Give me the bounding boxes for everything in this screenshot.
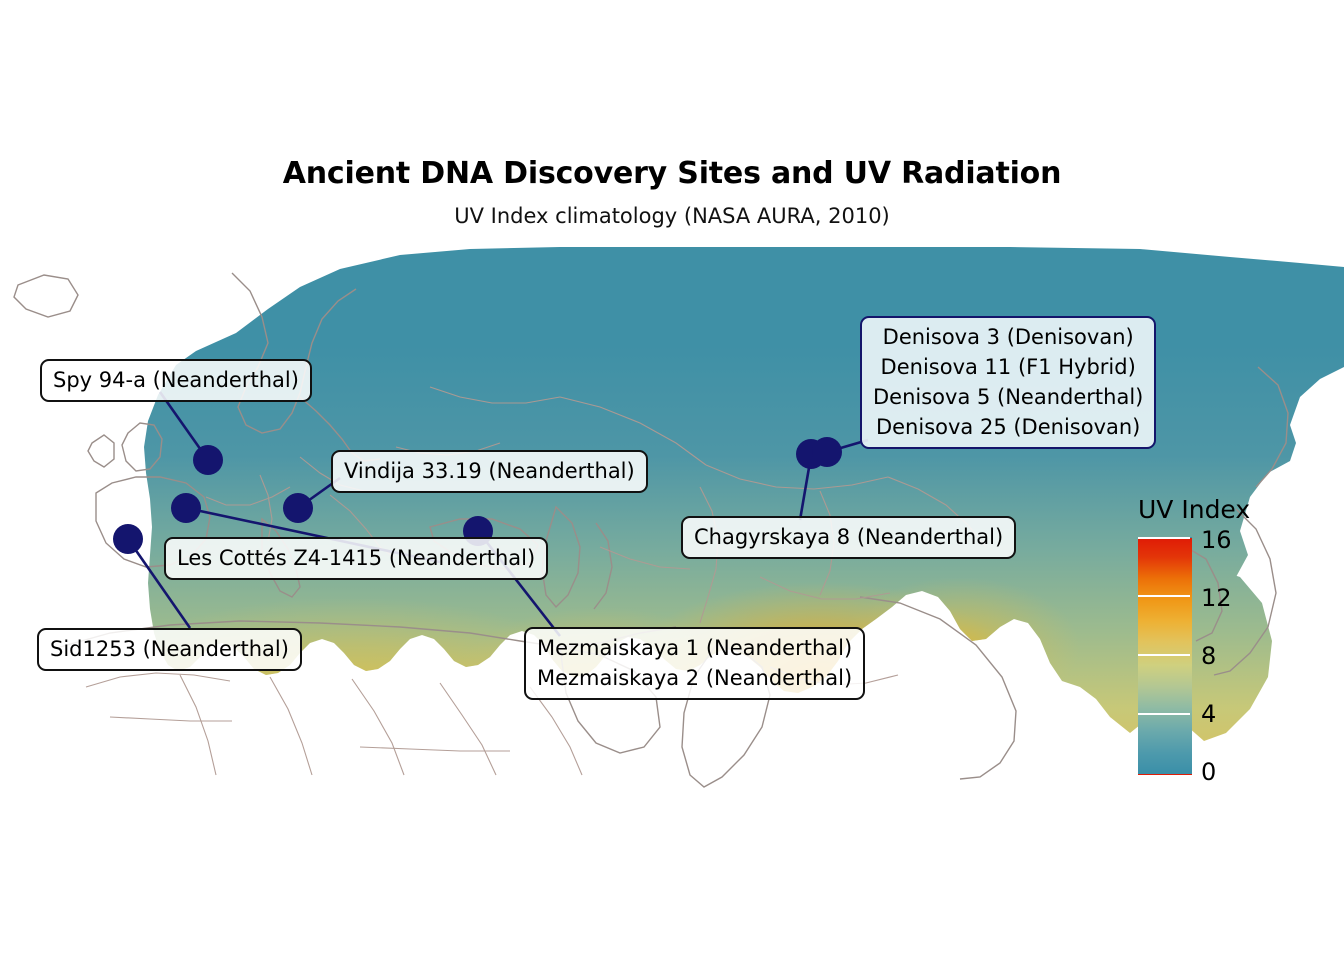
site-marker-spy[interactable] [193,445,223,475]
colorbar-tickline-8 [1138,654,1190,656]
colorbar-title: UV Index [1138,495,1250,524]
annotation-denisova-line-0: Denisova 3 (Denisovan) [873,322,1143,352]
annotation-mezmaiskaya-line-0: Mezmaiskaya 1 (Neanderthal) [537,633,852,663]
annotation-spy[interactable]: Spy 94-a (Neanderthal) [40,359,312,402]
page-title: Ancient DNA Discovery Sites and UV Radia… [0,156,1344,191]
annotation-sid1253-line-0: Sid1253 (Neanderthal) [50,634,289,664]
colorbar-label-8: 8 [1201,642,1216,670]
colorbar-tickline-4 [1138,713,1190,715]
annotation-lescottes-line-0: Les Cottés Z4-1415 (Neanderthal) [177,543,535,573]
annotation-denisova-line-2: Denisova 5 (Neanderthal) [873,382,1143,412]
annotation-lescottes[interactable]: Les Cottés Z4-1415 (Neanderthal) [164,537,548,580]
colorbar-tickline-16 [1138,537,1190,539]
annotation-vindija-line-0: Vindija 33.19 (Neanderthal) [344,456,635,486]
site-marker-lescottes[interactable] [171,493,201,523]
annotation-denisova-line-3: Denisova 25 (Denisovan) [873,412,1143,442]
site-marker-vindija[interactable] [283,493,313,523]
annotation-vindija[interactable]: Vindija 33.19 (Neanderthal) [331,450,648,493]
figure-canvas: Ancient DNA Discovery Sites and UV Radia… [0,0,1344,960]
site-marker-sid1253[interactable] [113,524,143,554]
annotation-denisova[interactable]: Denisova 3 (Denisovan) Denisova 11 (F1 H… [860,316,1156,449]
colorbar-label-4: 4 [1201,700,1216,728]
site-marker-denisova[interactable] [812,437,842,467]
colorbar-gradient [1138,537,1192,775]
annotation-spy-line-0: Spy 94-a (Neanderthal) [53,365,299,395]
colorbar-label-0: 0 [1201,758,1216,786]
annotation-denisova-line-1: Denisova 11 (F1 Hybrid) [873,352,1143,382]
annotation-mezmaiskaya[interactable]: Mezmaiskaya 1 (Neanderthal) Mezmaiskaya … [524,627,865,700]
colorbar-tickline-12 [1138,595,1190,597]
page-subtitle: UV Index climatology (NASA AURA, 2010) [0,204,1344,228]
colorbar: UV Index 16 12 8 4 0 [1131,495,1331,795]
colorbar-label-16: 16 [1201,526,1232,554]
colorbar-label-12: 12 [1201,584,1232,612]
annotation-sid1253[interactable]: Sid1253 (Neanderthal) [37,628,302,671]
annotation-mezmaiskaya-line-1: Mezmaiskaya 2 (Neanderthal) [537,663,852,693]
annotation-chagyrskaya[interactable]: Chagyrskaya 8 (Neanderthal) [681,516,1016,559]
annotation-chagyrskaya-line-0: Chagyrskaya 8 (Neanderthal) [694,522,1003,552]
